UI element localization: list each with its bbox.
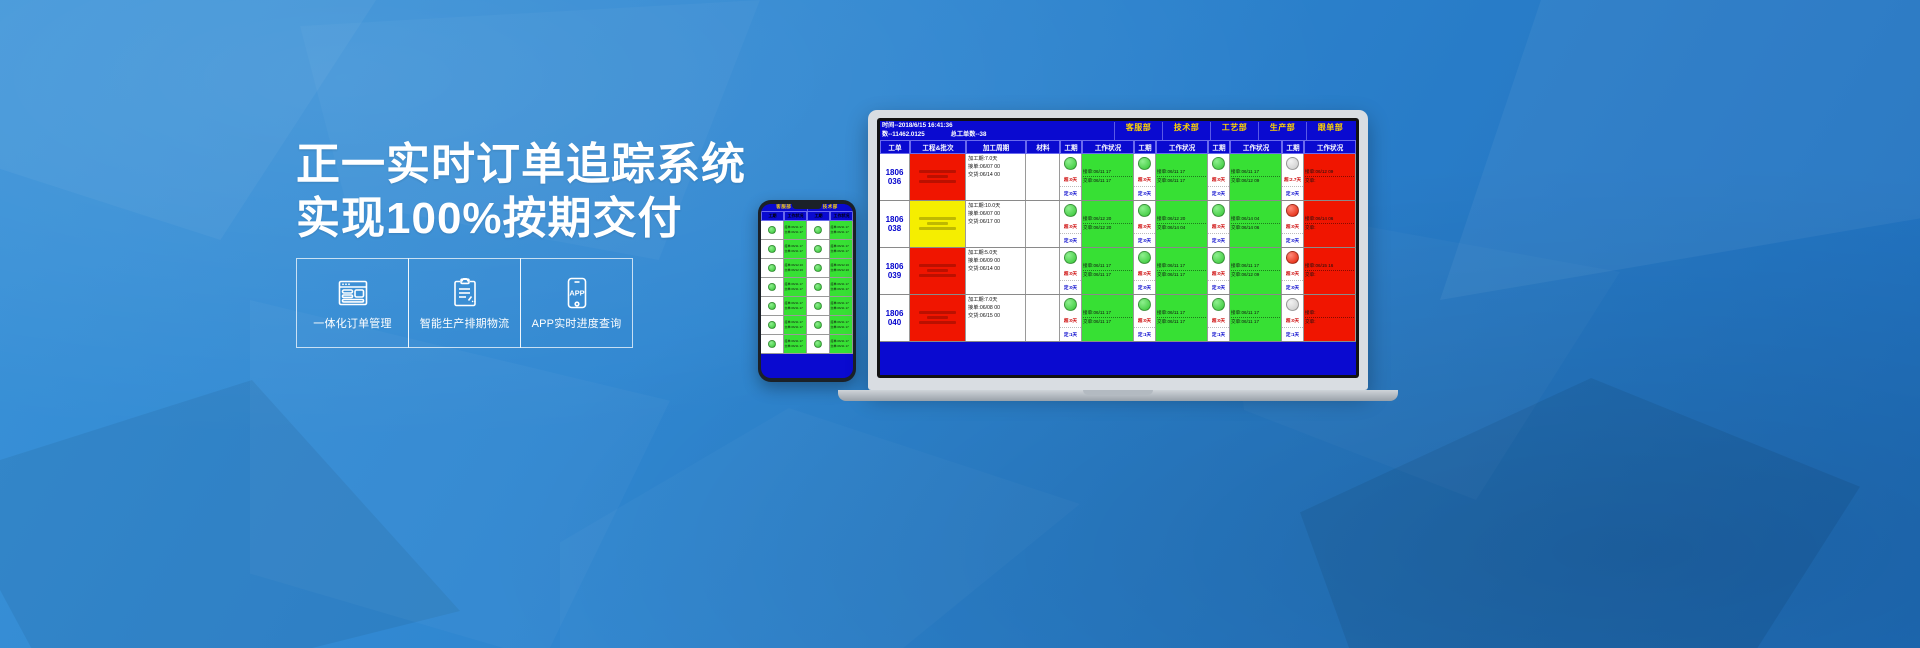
phone-table-row[interactable]: 接单:06/11 17交单:06/11 17接单:06/11 17交单:06/1… [761, 240, 853, 259]
department-header-row: 客服部 技术部 工艺部 生产部 跟单部 [1114, 122, 1354, 140]
phone-status-deliver: 交单:06/11 17 [785, 325, 803, 330]
svg-text:APP: APP [569, 289, 584, 298]
col-header-status-0: 工作状况 [1082, 140, 1134, 154]
cell-project-batch [910, 201, 966, 247]
cell-duration-0: 超:0天定:0天 [1060, 154, 1082, 200]
status-receive-3: 接单: [1305, 310, 1354, 319]
dashboard-meta: 时间--2018/6/15 16:41:36 数--11462.0125 总工单… [882, 122, 1114, 140]
order-no-prefix: 1806 [886, 168, 904, 177]
status-deliver-3: 交单: [1305, 225, 1354, 232]
phone-status-dot [768, 245, 776, 253]
status-receive-1: 接单:06/12 20 [1157, 216, 1206, 225]
order-no-suffix: 039 [888, 271, 901, 280]
cell-duration-3: 超:2.7天定:0天 [1282, 154, 1304, 200]
phone-status-dot [814, 321, 822, 329]
set-days-3: 定:1天 [1282, 328, 1303, 341]
overdue-days-1: 超:0天 [1134, 267, 1155, 281]
laptop-lid: 时间--2018/6/15 16:41:36 数--11462.0125 总工单… [868, 110, 1368, 390]
set-days-0: 定:0天 [1060, 187, 1081, 200]
laptop-screen: 时间--2018/6/15 16:41:36 数--11462.0125 总工单… [880, 121, 1356, 375]
phone-cell-duration [761, 278, 784, 296]
col-header-duration-3: 工期 [1282, 140, 1304, 154]
set-days-2: 定:0天 [1208, 234, 1229, 247]
cell-duration-0: 超:0天定:0天 [1060, 201, 1082, 247]
phone-cell-status: 接单:06/11 17交单:06/11 17 [784, 221, 808, 239]
cell-duration-2: 超:0天定:0天 [1208, 201, 1230, 247]
status-dot-gray [1286, 157, 1299, 170]
cycle-line-2: 交货:06/14 00 [968, 266, 1023, 274]
cell-work-status-1: 接单:06/12 20交单:06/14 04 [1156, 201, 1208, 247]
phone-cell-duration [807, 221, 830, 239]
status-dot-red [1286, 251, 1299, 264]
cycle-line-1: 接单:06/07 00 [968, 211, 1023, 219]
feature-label: 智能生产排期物流 [420, 315, 510, 331]
headline-line-2: 实现100%按期交付 [296, 192, 716, 246]
table-row[interactable]: 1806038加工期:10.0天接单:06/07 00交货:06/17 00超:… [880, 201, 1356, 248]
status-indicator-1 [1134, 201, 1155, 220]
col-header-material: 材料 [1026, 140, 1060, 154]
phone-status-dot [814, 283, 822, 291]
layout-card-icon [338, 275, 368, 311]
overdue-days-1: 超:0天 [1134, 220, 1155, 234]
cell-processing-cycle: 加工期:10.0天接单:06/07 00交货:06/17 00 [966, 201, 1026, 247]
col-header-project: 工程&批次 [910, 140, 966, 154]
status-indicator-0 [1060, 248, 1081, 267]
phone-status-dot [768, 226, 776, 234]
set-days-2: 定:1天 [1208, 328, 1229, 341]
phone-cell-duration [761, 240, 784, 258]
status-receive-3: 接单:06/12 09 [1305, 169, 1354, 178]
phone-status-deliver: 交单:06/11 17 [831, 287, 849, 292]
cell-order-no: 1806036 [880, 154, 910, 200]
overdue-days-3: 超:0天 [1282, 220, 1303, 234]
status-dot-green [1138, 251, 1151, 264]
status-dot-green [1138, 157, 1151, 170]
cycle-line-0: 加工期:10.0天 [968, 203, 1023, 211]
col-header-duration-1: 工期 [1134, 140, 1156, 154]
status-indicator-0 [1060, 295, 1081, 314]
table-header-row: 工单 工程&批次 加工周期 材料 工期工作状况工期工作状况工期工作状况工期工作状… [880, 140, 1356, 154]
phone-cell-duration [761, 316, 784, 334]
set-days-1: 定:0天 [1134, 187, 1155, 200]
phone-status-dot [814, 340, 822, 348]
cell-duration-2: 超:0天定:0天 [1208, 248, 1230, 294]
phone-status-deliver: 交单:06/12 20 [831, 268, 850, 273]
phone-cell-status: 接单:06/11 17交单:06/11 17 [784, 240, 808, 258]
cell-work-status-2: 接单:06/11 17交单:06/11 17 [1230, 295, 1282, 341]
cell-order-no: 1806038 [880, 201, 910, 247]
status-dot-green [1212, 298, 1225, 311]
sub-header-group: 工期工作状况工期工作状况工期工作状况工期工作状况工期工作状况 [1060, 140, 1356, 154]
dept-title-customer-service: 客服部 [1114, 122, 1162, 140]
status-indicator-2 [1208, 201, 1229, 220]
headline-block: 正一实时订单追踪系统 实现100%按期交付 [296, 138, 716, 245]
phone-table-row[interactable]: 接单:06/11 17交单:06/11 17接单:06/11 17交单:06/1… [761, 221, 853, 240]
phone-col-header: 工作状况 [784, 211, 807, 221]
meta-count: 数--11462.0125 [882, 131, 925, 140]
phone-status-dot [814, 302, 822, 310]
dept-title-technology: 技术部 [1162, 122, 1210, 140]
phone-cell-status: 接单:06/11 17交单:06/11 17 [784, 335, 808, 353]
status-receive-2: 接单:06/14 04 [1231, 216, 1280, 225]
table-row[interactable]: 1806039加工期:5.0天接单:06/09 00交货:06/14 00超:0… [880, 248, 1356, 295]
feature-label: APP实时进度查询 [532, 315, 622, 331]
phone-status-deliver: 交单:06/12 20 [785, 268, 804, 273]
status-deliver-2: 交单:06/12 09 [1231, 178, 1280, 185]
status-deliver-1: 交单:06/14 04 [1157, 225, 1206, 232]
cycle-line-2: 交货:06/15 00 [968, 313, 1023, 321]
phone-table-row[interactable]: 接单:06/12 20交单:06/12 20接单:06/12 20交单:06/1… [761, 259, 853, 278]
col-header-cycle: 加工周期 [966, 140, 1026, 154]
overdue-days-0: 超:0天 [1060, 220, 1081, 234]
overdue-days-0: 超:0天 [1060, 314, 1081, 328]
cell-project-batch [910, 248, 966, 294]
overdue-days-2: 超:0天 [1208, 314, 1229, 328]
page-title: 正一实时订单追踪系统 实现100%按期交付 [296, 138, 716, 245]
set-days-1: 定:1天 [1134, 328, 1155, 341]
promo-banner: 正一实时订单追踪系统 实现100%按期交付 一体化订单管理 [0, 0, 1920, 648]
status-dot-red [1286, 204, 1299, 217]
clipboard-icon [452, 275, 478, 311]
status-dot-green [1212, 204, 1225, 217]
cell-work-status-2: 接单:06/11 17交单:06/12 09 [1230, 248, 1282, 294]
phone-cell-status: 接单:06/11 17交单:06/11 17 [830, 316, 854, 334]
phone-cell-duration [807, 316, 830, 334]
status-receive-2: 接单:06/11 17 [1231, 169, 1280, 178]
cell-work-status-3: 接单:06/14 06交单: [1304, 201, 1356, 247]
status-receive-1: 接单:06/11 17 [1157, 310, 1206, 319]
overdue-days-0: 超:0天 [1060, 267, 1081, 281]
status-dot-green [1138, 298, 1151, 311]
cell-work-status-3: 接单:06/15 16交单: [1304, 248, 1356, 294]
feature-order-management[interactable]: 一体化订单管理 [296, 258, 409, 348]
dept-title-production: 生产部 [1258, 122, 1306, 140]
phone-status-dot [768, 264, 776, 272]
phone-cell-duration [807, 259, 830, 277]
status-dot-green [1212, 251, 1225, 264]
phone-status-deliver: 交单:06/11 17 [831, 306, 849, 311]
cell-work-status-1: 接单:06/11 17交单:06/11 17 [1156, 295, 1208, 341]
cell-work-status-0: 接单:06/11 17交单:06/11 17 [1082, 154, 1134, 200]
cell-order-no: 1806040 [880, 295, 910, 341]
cell-processing-cycle: 加工期:7.0天接单:06/07 00交货:06/14 00 [966, 154, 1026, 200]
cell-duration-1: 超:0天定:0天 [1134, 154, 1156, 200]
status-indicator-2 [1208, 154, 1229, 173]
phone-status-dot [768, 302, 776, 310]
phone-col-header: 工期 [807, 211, 830, 221]
order-no-suffix: 038 [888, 224, 901, 233]
phone-status-dot [768, 340, 776, 348]
overdue-days-2: 超:0天 [1208, 267, 1229, 281]
status-deliver-2: 交单:06/14 06 [1231, 225, 1280, 232]
cycle-line-0: 加工期:7.0天 [968, 297, 1023, 305]
status-deliver-0: 交单:06/11 17 [1083, 319, 1132, 326]
meta-total: 总工单数--38 [951, 131, 987, 140]
phone-status-deliver: 交单:06/11 17 [831, 249, 849, 254]
phone-status-dot [768, 283, 776, 291]
cell-work-status-2: 接单:06/14 04交单:06/14 06 [1230, 201, 1282, 247]
status-receive-1: 接单:06/11 17 [1157, 169, 1206, 178]
status-deliver-2: 交单:06/12 09 [1231, 272, 1280, 279]
dept-title-merchandising: 跟单部 [1306, 122, 1354, 140]
phone-screen: 客服部 技术部 工期 工作状况 工期 工作状况 接单:06/11 17交单:06… [761, 204, 853, 378]
status-dot-green [1064, 204, 1077, 217]
status-receive-3: 接单:06/14 06 [1305, 216, 1354, 225]
phone-app-icon: APP [565, 275, 589, 311]
cell-order-no: 1806039 [880, 248, 910, 294]
cell-material [1026, 154, 1060, 200]
set-days-0: 定:0天 [1060, 281, 1081, 294]
device-mockups: 客服部 技术部 工期 工作状况 工期 工作状况 接单:06/11 17交单:06… [750, 110, 1370, 440]
cell-duration-3: 超:0天定:0天 [1282, 248, 1304, 294]
phone-cell-status: 接单:06/11 17交单:06/11 17 [784, 316, 808, 334]
col-header-status-2: 工作状况 [1230, 140, 1282, 154]
status-deliver-1: 交单:06/11 17 [1157, 272, 1206, 279]
cell-duration-0: 超:0天定:0天 [1060, 248, 1082, 294]
cell-processing-cycle: 加工期:5.0天接单:06/09 00交货:06/14 00 [966, 248, 1026, 294]
overdue-days-2: 超:0天 [1208, 220, 1229, 234]
set-days-0: 定:0天 [1060, 234, 1081, 247]
col-header-duration-0: 工期 [1060, 140, 1082, 154]
order-no-suffix: 040 [888, 318, 901, 327]
laptop-mockup: 时间--2018/6/15 16:41:36 数--11462.0125 总工单… [868, 110, 1368, 401]
status-deliver-3: 交单: [1305, 178, 1354, 185]
phone-cell-duration [761, 335, 784, 353]
phone-cell-duration [807, 335, 830, 353]
phone-cell-status: 接单:06/11 17交单:06/11 17 [830, 221, 854, 239]
cell-duration-3: 超:0天定:1天 [1282, 295, 1304, 341]
overdue-days-1: 超:0天 [1134, 173, 1155, 187]
status-indicator-3 [1282, 248, 1303, 267]
status-dot-gray [1286, 298, 1299, 311]
phone-table-row[interactable]: 接单:06/11 17交单:06/11 17接单:06/11 17交单:06/1… [761, 278, 853, 297]
laptop-base-notch [1083, 390, 1153, 395]
status-dot-green [1212, 157, 1225, 170]
phone-table-row[interactable]: 接单:06/11 17交单:06/11 17接单:06/11 17交单:06/1… [761, 297, 853, 316]
phone-cell-duration [761, 297, 784, 315]
cycle-line-1: 接单:06/07 00 [968, 164, 1023, 172]
bg-facet [560, 408, 1080, 648]
headline-line-1: 正一实时订单追踪系统 [296, 140, 746, 189]
status-deliver-1: 交单:06/11 17 [1157, 178, 1206, 185]
status-indicator-2 [1208, 248, 1229, 267]
status-receive-1: 接单:06/11 17 [1157, 263, 1206, 272]
status-dot-green [1064, 251, 1077, 264]
set-days-2: 定:0天 [1208, 187, 1229, 200]
laptop-base [838, 390, 1398, 401]
cell-duration-1: 超:0天定:0天 [1134, 248, 1156, 294]
cell-material [1026, 248, 1060, 294]
cell-duration-1: 超:0天定:1天 [1134, 295, 1156, 341]
cell-work-status-1: 接单:06/11 17交单:06/11 17 [1156, 154, 1208, 200]
col-header-status-3: 工作状况 [1304, 140, 1356, 154]
dept-title-process: 工艺部 [1210, 122, 1258, 140]
phone-status-deliver: 交单:06/11 17 [785, 230, 803, 235]
cell-duration-0: 超:0天定:1天 [1060, 295, 1082, 341]
feature-list: 一体化订单管理 智能生产排期物流 [296, 258, 633, 348]
bg-facet [0, 380, 460, 648]
status-indicator-1 [1134, 295, 1155, 314]
status-deliver-0: 交单:06/12 20 [1083, 225, 1132, 232]
status-indicator-1 [1134, 248, 1155, 267]
phone-status-dot [814, 245, 822, 253]
phone-cell-status: 接单:06/11 17交单:06/11 17 [830, 240, 854, 258]
dashboard-topbar: 时间--2018/6/15 16:41:36 数--11462.0125 总工单… [880, 121, 1356, 140]
status-deliver-1: 交单:06/11 17 [1157, 319, 1206, 326]
status-dot-green [1064, 298, 1077, 311]
order-tracking-dashboard: 时间--2018/6/15 16:41:36 数--11462.0125 总工单… [880, 121, 1356, 342]
phone-cell-status: 接单:06/11 17交单:06/11 17 [830, 335, 854, 353]
set-days-1: 定:0天 [1134, 281, 1155, 294]
phone-cell-duration [761, 259, 784, 277]
status-deliver-3: 交单: [1305, 272, 1354, 279]
status-indicator-0 [1060, 201, 1081, 220]
phone-cell-duration [807, 240, 830, 258]
cycle-line-1: 接单:06/09 00 [968, 258, 1023, 266]
phone-status-dot [768, 321, 776, 329]
status-deliver-0: 交单:06/11 17 [1083, 272, 1132, 279]
status-deliver-3: 交单: [1305, 319, 1354, 326]
cell-work-status-2: 接单:06/11 17交单:06/12 09 [1230, 154, 1282, 200]
cell-material [1026, 295, 1060, 341]
bg-facet [1300, 378, 1860, 648]
cycle-line-0: 加工期:7.0天 [968, 156, 1023, 164]
status-receive-3: 接单:06/15 16 [1305, 263, 1354, 272]
overdue-days-3: 超:0天 [1282, 267, 1303, 281]
status-indicator-2 [1208, 295, 1229, 314]
cell-duration-2: 超:0天定:0天 [1208, 154, 1230, 200]
cell-work-status-1: 接单:06/11 17交单:06/11 17 [1156, 248, 1208, 294]
phone-status-dot [814, 226, 822, 234]
status-receive-0: 接单:06/12 20 [1083, 216, 1132, 225]
status-receive-0: 接单:06/11 17 [1083, 310, 1132, 319]
phone-status-deliver: 交单:06/11 17 [831, 325, 849, 330]
cell-material [1026, 201, 1060, 247]
phone-col-header: 工作状况 [830, 211, 853, 221]
phone-cell-status: 接单:06/11 17交单:06/11 17 [784, 297, 808, 315]
table-row[interactable]: 1806040加工期:7.0天接单:06/08 00交货:06/15 00超:0… [880, 295, 1356, 342]
order-no-prefix: 1806 [886, 262, 904, 271]
bg-facet [1440, 0, 1920, 300]
phone-table-row[interactable]: 接单:06/11 17交单:06/11 17接单:06/11 17交单:06/1… [761, 316, 853, 335]
set-days-0: 定:1天 [1060, 328, 1081, 341]
set-days-3: 定:0天 [1282, 234, 1303, 247]
cell-work-status-0: 接单:06/11 17交单:06/11 17 [1082, 248, 1134, 294]
set-days-3: 定:0天 [1282, 281, 1303, 294]
cell-project-batch [910, 154, 966, 200]
status-indicator-3 [1282, 201, 1303, 220]
phone-cell-status: 接单:06/12 20交单:06/12 20 [830, 259, 854, 277]
phone-status-deliver: 交单:06/11 17 [785, 287, 803, 292]
phone-cell-status: 接单:06/11 17交单:06/11 17 [830, 278, 854, 296]
status-deliver-0: 交单:06/11 17 [1083, 178, 1132, 185]
set-days-2: 定:0天 [1208, 281, 1229, 294]
status-dot-green [1138, 204, 1151, 217]
status-receive-2: 接单:06/11 17 [1231, 310, 1280, 319]
order-no-prefix: 1806 [886, 215, 904, 224]
status-indicator-0 [1060, 154, 1081, 173]
cycle-line-1: 接单:06/08 00 [968, 305, 1023, 313]
feature-smart-scheduling[interactable]: 智能生产排期物流 [408, 258, 521, 348]
phone-status-deliver: 交单:06/11 17 [785, 249, 803, 254]
phone-status-dot [814, 264, 822, 272]
phone-mockup: 客服部 技术部 工期 工作状况 工期 工作状况 接单:06/11 17交单:06… [758, 200, 856, 382]
cell-work-status-3: 接单:06/12 09交单: [1304, 154, 1356, 200]
cell-duration-1: 超:0天定:0天 [1134, 201, 1156, 247]
phone-table-body: 接单:06/11 17交单:06/11 17接单:06/11 17交单:06/1… [761, 221, 853, 354]
bg-facet [250, 300, 670, 648]
phone-col-header: 工期 [761, 211, 784, 221]
col-header-duration-2: 工期 [1208, 140, 1230, 154]
phone-table-row[interactable]: 接单:06/11 17交单:06/11 17接单:06/11 17交单:06/1… [761, 335, 853, 354]
cycle-line-0: 加工期:5.0天 [968, 250, 1023, 258]
status-receive-0: 接单:06/11 17 [1083, 169, 1132, 178]
phone-table-header: 工期 工作状况 工期 工作状况 [761, 211, 853, 221]
phone-dashboard: 客服部 技术部 工期 工作状况 工期 工作状况 接单:06/11 17交单:06… [761, 204, 853, 354]
phone-notch [792, 204, 822, 209]
cell-work-status-3: 接单:交单: [1304, 295, 1356, 341]
status-deliver-2: 交单:06/11 17 [1231, 319, 1280, 326]
phone-status-deliver: 交单:06/11 17 [831, 344, 849, 349]
feature-app-tracking[interactable]: APP APP实时进度查询 [520, 258, 633, 348]
overdue-days-3: 超:0天 [1282, 314, 1303, 328]
phone-status-deliver: 交单:06/11 17 [785, 344, 803, 349]
set-days-1: 定:0天 [1134, 234, 1155, 247]
overdue-days-1: 超:0天 [1134, 314, 1155, 328]
col-header-order-no: 工单 [880, 140, 910, 154]
cell-duration-3: 超:0天定:0天 [1282, 201, 1304, 247]
overdue-days-0: 超:0天 [1060, 173, 1081, 187]
order-no-suffix: 036 [888, 177, 901, 186]
cell-work-status-0: 接单:06/12 20交单:06/12 20 [1082, 201, 1134, 247]
phone-cell-status: 接单:06/11 17交单:06/11 17 [830, 297, 854, 315]
cell-processing-cycle: 加工期:7.0天接单:06/08 00交货:06/15 00 [966, 295, 1026, 341]
status-receive-2: 接单:06/11 17 [1231, 263, 1280, 272]
table-row[interactable]: 1806036加工期:7.0天接单:06/07 00交货:06/14 00超:0… [880, 154, 1356, 201]
phone-status-deliver: 交单:06/11 17 [831, 230, 849, 235]
phone-cell-status: 接单:06/11 17交单:06/11 17 [784, 278, 808, 296]
feature-label: 一体化订单管理 [313, 315, 391, 331]
set-days-3: 定:0天 [1282, 187, 1303, 200]
phone-status-deliver: 交单:06/11 17 [785, 306, 803, 311]
order-no-prefix: 1806 [886, 309, 904, 318]
overdue-days-2: 超:0天 [1208, 173, 1229, 187]
cell-duration-2: 超:0天定:1天 [1208, 295, 1230, 341]
status-indicator-1 [1134, 154, 1155, 173]
col-header-status-1: 工作状况 [1156, 140, 1208, 154]
phone-cell-duration [761, 221, 784, 239]
laptop-bezel: 时间--2018/6/15 16:41:36 数--11462.0125 总工单… [877, 118, 1359, 378]
cell-work-status-0: 接单:06/11 17交单:06/11 17 [1082, 295, 1134, 341]
overdue-days-3: 超:2.7天 [1282, 173, 1303, 187]
status-indicator-3 [1282, 154, 1303, 173]
meta-time: 时间--2018/6/15 16:41:36 [882, 122, 1114, 131]
cell-project-batch [910, 295, 966, 341]
phone-cell-duration [807, 297, 830, 315]
cycle-line-2: 交货:06/14 00 [968, 172, 1023, 180]
status-dot-green [1064, 157, 1077, 170]
status-receive-0: 接单:06/11 17 [1083, 263, 1132, 272]
cycle-line-2: 交货:06/17 00 [968, 219, 1023, 227]
phone-cell-status: 接单:06/12 20交单:06/12 20 [784, 259, 808, 277]
phone-cell-duration [807, 278, 830, 296]
table-body: 1806036加工期:7.0天接单:06/07 00交货:06/14 00超:0… [880, 154, 1356, 342]
status-indicator-3 [1282, 295, 1303, 314]
